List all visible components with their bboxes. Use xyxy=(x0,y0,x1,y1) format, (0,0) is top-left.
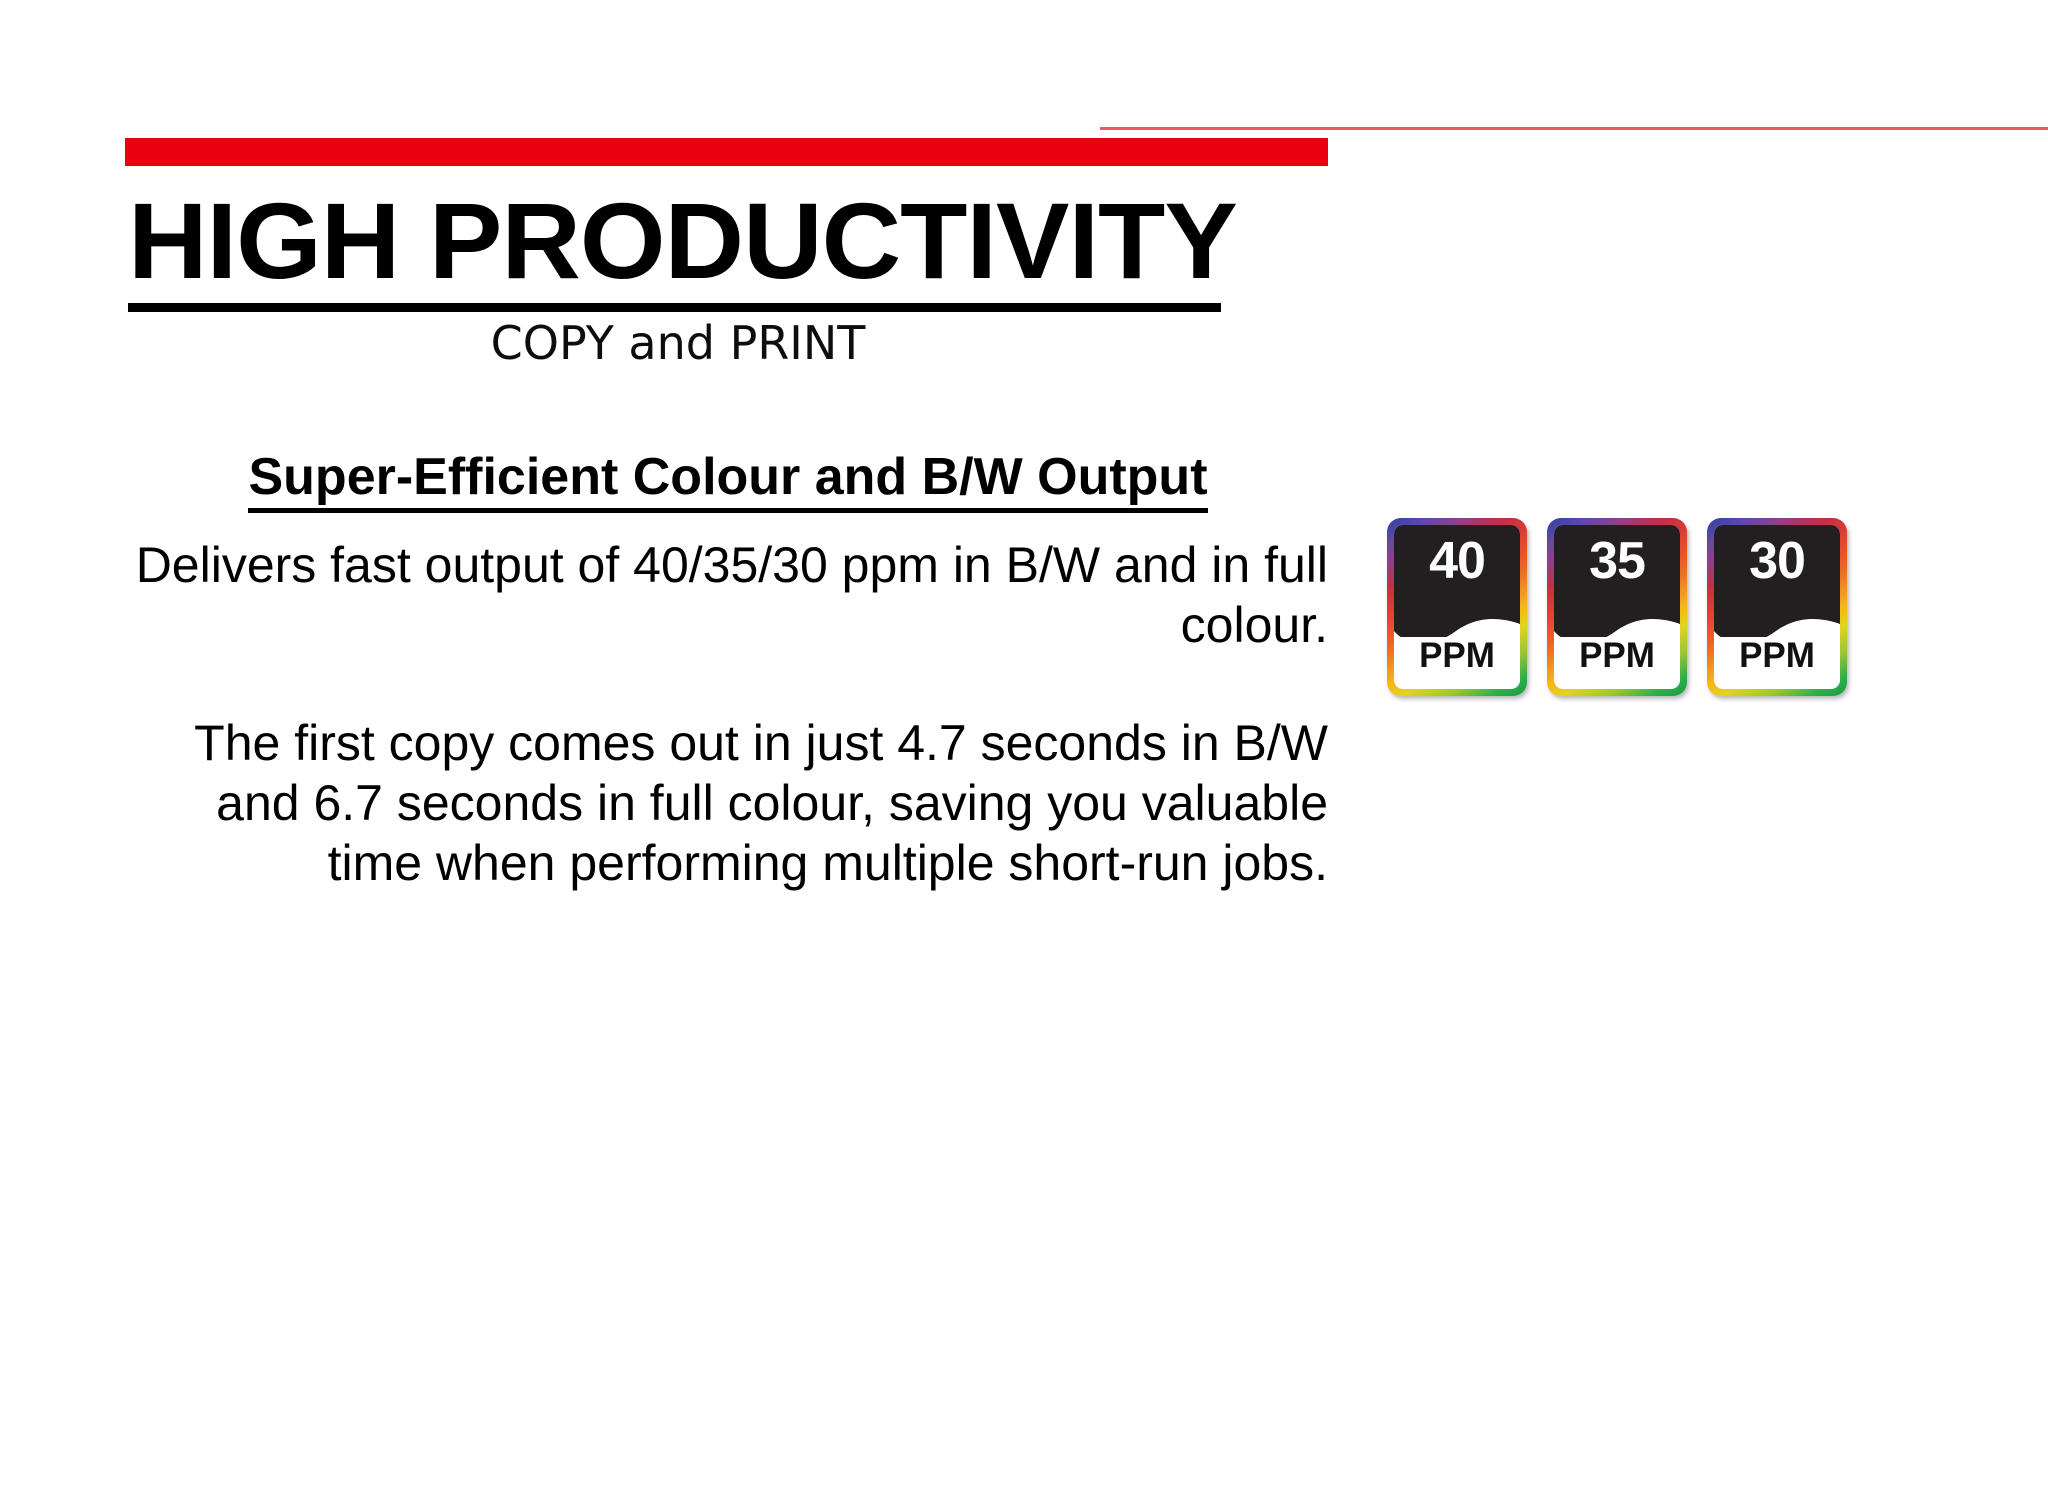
page-subtitle: COPY and PRINT xyxy=(128,318,1228,369)
page-title: HIGH PRODUCTIVITY xyxy=(128,186,1250,296)
ppm-badge: 35 PPM xyxy=(1547,518,1687,696)
ppm-badge-group: 40 PPM 35 PPM 30 PPM xyxy=(1387,518,1857,698)
ppm-badge-inner: 30 PPM xyxy=(1714,525,1840,689)
body-paragraph-2: The first copy comes out in just 4.7 sec… xyxy=(128,713,1328,893)
ppm-badge-value: 30 xyxy=(1714,535,1840,587)
ppm-badge-unit: PPM xyxy=(1714,638,1840,673)
page-title-underline xyxy=(128,303,1221,312)
ppm-badge: 30 PPM xyxy=(1707,518,1847,696)
ppm-badge-value: 40 xyxy=(1394,535,1520,587)
body-content-column: Super-Efficient Colour and B/W Output De… xyxy=(128,448,1328,893)
slide-canvas: HIGH PRODUCTIVITY COPY and PRINT Super-E… xyxy=(0,0,2048,1497)
ppm-badge: 40 PPM xyxy=(1387,518,1527,696)
header-thin-rule xyxy=(1100,127,2048,130)
ppm-badge-unit: PPM xyxy=(1554,638,1680,673)
section-heading-text: Super-Efficient Colour and B/W Output xyxy=(248,448,1207,513)
ppm-badge-inner: 40 PPM xyxy=(1394,525,1520,689)
ppm-badge-inner: 35 PPM xyxy=(1554,525,1680,689)
page-title-wrapper: HIGH PRODUCTIVITY xyxy=(128,186,1228,296)
body-paragraph-1: Delivers fast output of 40/35/30 ppm in … xyxy=(128,535,1328,655)
section-heading: Super-Efficient Colour and B/W Output xyxy=(128,448,1328,513)
ppm-badge-unit: PPM xyxy=(1394,638,1520,673)
header-accent-bar xyxy=(125,138,1328,166)
ppm-badge-value: 35 xyxy=(1554,535,1680,587)
